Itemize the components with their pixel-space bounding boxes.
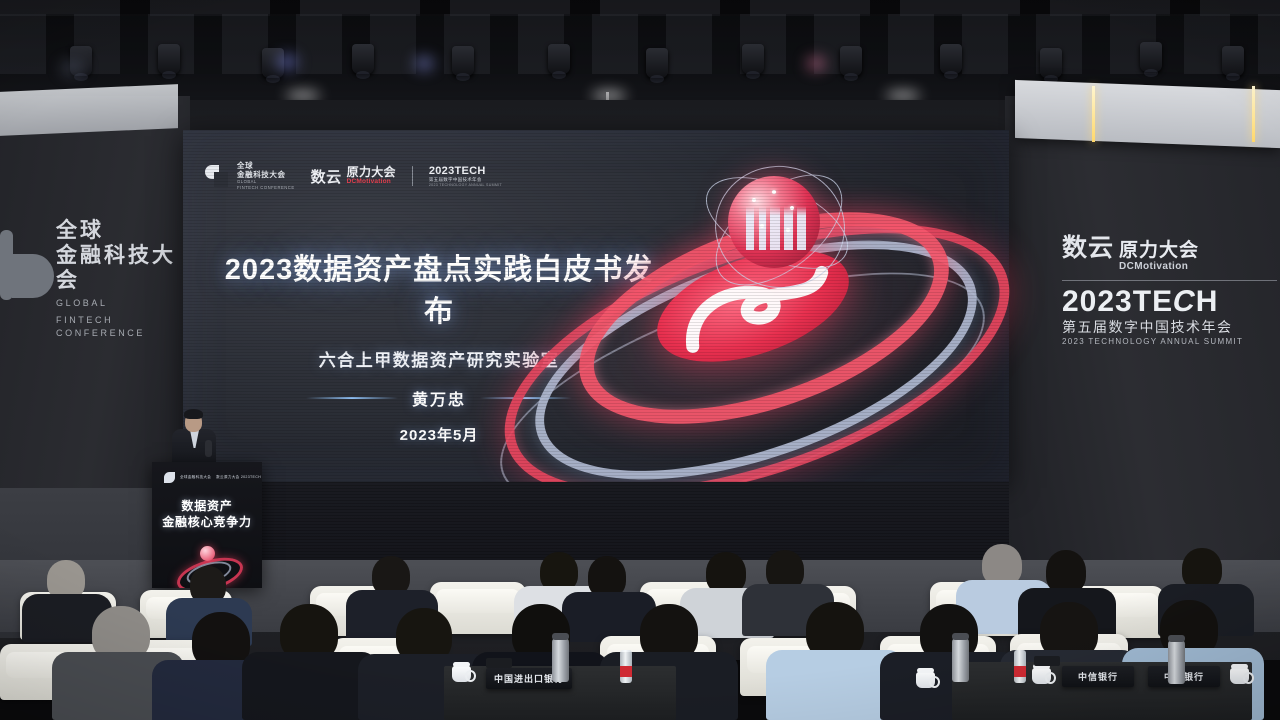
table-microphone — [1034, 656, 1060, 666]
galaxy-graphic — [483, 170, 1013, 470]
screen-dcm-cn: 数云 — [311, 166, 342, 187]
logo-divider — [412, 166, 413, 186]
signage-divider — [1062, 280, 1277, 281]
stage-light-fixture — [646, 48, 668, 78]
tea-cup — [452, 666, 471, 682]
light-glow — [592, 92, 626, 99]
left-sign-en-line2: FINTECH CONFERENCE — [56, 314, 183, 340]
name-card-label: 中信银行 — [1078, 670, 1118, 683]
right-sign-brand-mark: 数云 — [1062, 228, 1114, 264]
screen-dcm-logo: 数云 原力大会 DCMotivation — [311, 166, 396, 187]
podium-logo-text-1: 全球金融科技大会 — [180, 475, 211, 480]
main-led-screen: 全球 金融科技大会 GLOBAL FINTECH CONFERENCE 数云 原… — [183, 130, 1009, 482]
tech-word-e: C — [1170, 286, 1199, 318]
thermos-flask — [952, 638, 969, 682]
stage-light-fixture — [840, 46, 862, 76]
gfc-logo-icon — [0, 230, 52, 300]
right-sign-sub-en: 2023 TECHNOLOGY ANNUAL SUMMIT — [1062, 336, 1277, 347]
light-glow — [276, 54, 298, 70]
speaker-hair — [184, 409, 203, 419]
speaker-name: 黄万忠 — [412, 386, 466, 410]
stage-light-fixture — [548, 44, 570, 74]
upper-right-wall-panel — [1015, 80, 1280, 148]
right-sign-brand-cn: 原力大会 — [1119, 241, 1199, 261]
stage-light-fixture — [940, 44, 962, 74]
wall-light-strip — [1252, 86, 1255, 142]
sphere-cityscape — [746, 206, 806, 250]
light-glow — [60, 60, 86, 76]
podium-logo: 全球金融科技大会 数云原力大会 2023TECH — [164, 472, 261, 483]
light-glow — [886, 92, 920, 99]
stage-light-fixture — [1140, 42, 1162, 72]
thermos-flask — [552, 638, 569, 682]
right-sign-sub-cn: 第五届数字中国技术年会 — [1062, 318, 1277, 336]
thermos-flask — [1168, 640, 1185, 684]
screen-gfc-en2: FINTECH CONFERENCE — [237, 185, 295, 191]
stage-light-fixture — [158, 44, 180, 74]
stage-light-fixture — [352, 44, 374, 74]
upper-left-wall-panel — [0, 84, 178, 136]
galaxy-sphere — [728, 176, 820, 268]
light-glow — [414, 56, 434, 71]
stage-light-fixture — [452, 46, 474, 76]
tea-cup — [916, 672, 935, 688]
rule-left — [306, 397, 398, 399]
gfc-mark-icon — [205, 163, 231, 189]
stage-light-fixture — [1222, 46, 1244, 76]
screen-header-logos: 全球 金融科技大会 GLOBAL FINTECH CONFERENCE 数云 原… — [205, 162, 502, 190]
stage-light-fixture — [1040, 48, 1062, 78]
table-name-card[interactable]: 中信银行 — [1062, 666, 1134, 687]
wall-light-strip — [1092, 86, 1095, 142]
podium-line-1: 数据资产 — [152, 498, 262, 514]
water-bottle — [1014, 650, 1026, 683]
light-glow — [806, 56, 826, 71]
conference-photo-scene: 全球 金融科技大会 GLOBAL FINTECH CONFERENCE 数云 原… — [0, 0, 1280, 720]
light-glow — [286, 92, 320, 99]
podium-logo-text-2: 数云原力大会 2023TECH — [216, 475, 261, 480]
left-sign-cn-line1: 全球 — [56, 218, 183, 243]
tech-word-b: H — [1196, 285, 1219, 318]
tech-year: 2023 — [1062, 285, 1133, 318]
tea-cup — [1230, 668, 1249, 684]
right-wall-signage: 数云 原力大会 DCMotivation 2023TECH 第五届数字中国技术年… — [1062, 228, 1277, 347]
audience-area: 中国进出口银行 中信银行 中信银行 — [0, 520, 1280, 720]
table-microphone — [486, 658, 512, 668]
stage-light-fixture — [742, 44, 764, 74]
screen-gfc-logo: 全球 金融科技大会 GLOBAL FINTECH CONFERENCE — [205, 162, 295, 190]
ceiling-truss — [0, 14, 1280, 74]
tech-word-a: TE — [1133, 285, 1173, 318]
left-wall-signage: 全球 金融科技大会 GLOBAL FINTECH CONFERENCE — [8, 218, 183, 340]
water-bottle — [620, 650, 632, 683]
left-sign-cn-line2: 金融科技大会 — [56, 243, 183, 293]
left-sign-en-line1: GLOBAL — [56, 297, 183, 310]
screen-gfc-cn2: 金融科技大会 — [237, 171, 295, 180]
podium-mark-icon — [164, 472, 175, 483]
screen-dcm-title-cn: 原力大会 — [347, 166, 396, 178]
screen-dcm-title-en: DCMotivation — [347, 178, 396, 186]
right-sign-tech-title: 2023TECH — [1062, 286, 1277, 318]
right-sign-brand-en: DCMotivation — [1119, 261, 1199, 273]
tea-cup — [1032, 668, 1051, 684]
handheld-microphone-icon — [205, 440, 212, 457]
